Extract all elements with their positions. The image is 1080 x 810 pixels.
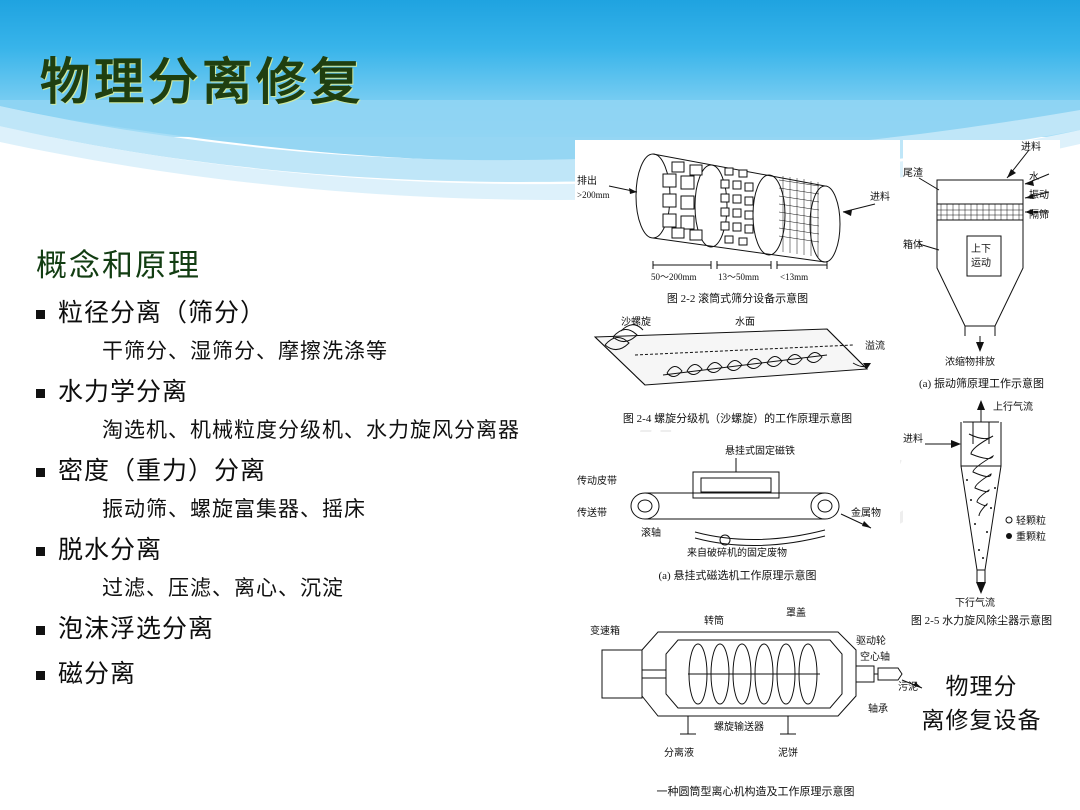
page-title: 物理分离修复 [40, 42, 364, 114]
fig6-label-feed: 进料 [903, 432, 923, 445]
figure-magnetic-separator: 悬挂式固定磁铁 传动皮带 传送带 滚轴 金属物 来自破碎机的固定废物 (a) 悬… [575, 432, 900, 582]
bullet-square-icon [36, 626, 45, 635]
bullet-square-icon [36, 310, 45, 319]
fig5-label-discharge: 浓缩物排放 [945, 355, 995, 368]
fig1-label-out: 排出 [577, 174, 597, 187]
fig2-caption: 图 2-4 螺旋分级机（沙螺旋）的工作原理示意图 [575, 410, 900, 426]
bullet-group-1: 水力学分离 淘选机、机械粒度分级机、水力旋风分离器 [36, 373, 576, 447]
bullet-sub-label: 淘选机、机械粒度分级机、水力旋风分离器 [102, 413, 576, 447]
bullet-square-icon [36, 671, 45, 680]
fig2-label-sand-spiral: 沙螺旋 [621, 315, 651, 328]
equipment-label-line2: 离修复设备 [903, 704, 1060, 738]
fig4-caption: 一种圆筒型离心机构造及工作原理示意图 [573, 783, 938, 799]
bullet-main-label: 磁分离 [58, 655, 136, 695]
fig3-label-conveyor: 传送带 [577, 506, 607, 519]
bullet-main-label: 密度（重力）分离 [58, 452, 266, 492]
fig2-label-water-surface: 水面 [735, 316, 755, 328]
equipment-label: 物理分 离修复设备 [903, 670, 1060, 738]
bullet-main-label: 粒径分离（筛分） [58, 294, 266, 334]
fig5-caption: (a) 振动筛原理工作示意图 [903, 375, 1060, 391]
fig6-label-up-flow: 上行气流 [993, 400, 1033, 413]
figure-spiral-classifier-drawing: 沙螺旋 水面 溢流 [575, 315, 900, 410]
fig1-scale-0: 50～200mm [651, 272, 697, 282]
bullet-group-0: 粒径分离（筛分） 干筛分、湿筛分、摩擦洗涤等 [36, 294, 576, 368]
bullet-square-icon [36, 389, 45, 398]
bullet-main-label: 脱水分离 [58, 531, 162, 571]
bullet-sub-label: 干筛分、湿筛分、摩擦洗涤等 [102, 334, 576, 368]
figure-magnetic-separator-drawing: 悬挂式固定磁铁 传动皮带 传送带 滚轴 金属物 来自破碎机的固定废物 [575, 432, 900, 567]
fig5-label-water: 水 [1029, 171, 1039, 183]
figure-centrifuge-drawing: 变速箱 转筒 罩盖 驱动轮 空心轴 污泥 轴承 螺旋输送器 分离液 泥饼 [538, 588, 938, 783]
figure-drum-screen-drawing: 排出 >200mm 进料 50～200mm 13～50mm <13mm [575, 140, 900, 290]
fig1-scale-1: 13～50mm [718, 272, 759, 282]
bullet-sub-label: 振动筛、螺旋富集器、摇床 [102, 492, 576, 526]
bullet-group-5: 磁分离 [36, 655, 576, 695]
fig5-label-vibration: 振动 [1029, 188, 1049, 201]
bullet-sub-label: 过滤、压滤、离心、沉淀 [102, 571, 576, 605]
fig1-scale-2: <13mm [780, 272, 808, 282]
fig1-caption: 图 2-2 滚筒式筛分设备示意图 [575, 290, 900, 306]
fig3-label-metal: 金属物 [851, 506, 881, 519]
figure-hydrocyclone: 上行气流 进料 轻颗粒 重颗粒 下行气流 图 2-5 水力旋风除尘器示意图 [903, 400, 1060, 630]
fig1-label-feed: 进料 [870, 190, 890, 203]
bullet-group-2: 密度（重力）分离 振动筛、螺旋富集器、摇床 [36, 452, 576, 526]
figure-spiral-classifier: 沙螺旋 水面 溢流 图 2-4 螺旋分级机（沙螺旋）的工作原理示意图 [575, 315, 900, 430]
fig1-label-out-size: >200mm [577, 190, 610, 200]
fig3-label-drive-belt: 传动皮带 [577, 474, 617, 487]
figure-vibrating-screen-drawing: 进料 水 振动 隔筛 尾渣 箱体 上下 运动 浓缩物排放 [903, 140, 1060, 375]
fig5-label-box: 箱体 [903, 238, 923, 251]
list-item: 水力学分离 [36, 373, 576, 413]
fig5-label-tailings: 尾渣 [903, 166, 923, 179]
fig3-caption: (a) 悬挂式磁选机工作原理示意图 [575, 567, 900, 583]
figure-vibrating-screen: 进料 水 振动 隔筛 尾渣 箱体 上下 运动 浓缩物排放 (a) 振动筛原理工作… [903, 140, 1060, 390]
figure-centrifuge: 变速箱 转筒 罩盖 驱动轮 空心轴 污泥 轴承 螺旋输送器 分离液 泥饼 一种圆… [538, 588, 938, 805]
fig5-label-updown-2: 运动 [971, 257, 991, 269]
fig6-label-heavy: 重颗粒 [1016, 530, 1046, 543]
section-title: 概念和原理 [36, 240, 201, 285]
fig5-label-updown-1: 上下 [971, 243, 991, 255]
bullet-square-icon [36, 468, 45, 477]
bullet-main-label: 泡沫浮选分离 [58, 610, 214, 650]
bullet-square-icon [36, 547, 45, 556]
figure-drum-screen: 排出 >200mm 进料 50～200mm 13～50mm <13mm 图 2-… [575, 140, 900, 305]
fig6-label-down-flow: 下行气流 [955, 596, 995, 609]
fig3-label-roller: 滚轴 [641, 526, 661, 539]
fig4-label-bearing: 轴承 [868, 702, 888, 715]
fig4-label-screw-conveyor: 螺旋输送器 [714, 720, 764, 733]
figure-hydrocyclone-drawing: 上行气流 进料 轻颗粒 重颗粒 下行气流 [903, 400, 1060, 610]
fig3-label-waste: 来自破碎机的固定废物 [687, 546, 787, 559]
list-item: 密度（重力）分离 [36, 452, 576, 492]
fig6-caption: 图 2-5 水力旋风除尘器示意图 [903, 612, 1060, 628]
fig5-label-feed: 进料 [1021, 140, 1041, 153]
fig4-label-drum: 转筒 [704, 614, 724, 627]
fig4-label-separation-liquid: 分离液 [664, 746, 694, 759]
fig2-label-overflow: 溢流 [865, 339, 885, 352]
list-item: 脱水分离 [36, 531, 576, 571]
fig6-label-light: 轻颗粒 [1016, 514, 1046, 527]
list-item: 泡沫浮选分离 [36, 610, 576, 650]
fig4-label-mud-cake: 泥饼 [778, 746, 798, 759]
fig4-label-drive-wheel: 驱动轮 [856, 634, 886, 647]
fig4-label-cover: 罩盖 [786, 606, 806, 619]
list-item: 粒径分离（筛分） [36, 294, 576, 334]
bullet-list: 粒径分离（筛分） 干筛分、湿筛分、摩擦洗涤等 水力学分离 淘选机、机械粒度分级机… [36, 292, 576, 700]
fig4-label-hollow-shaft: 空心轴 [860, 650, 890, 663]
list-item: 磁分离 [36, 655, 576, 695]
bullet-main-label: 水力学分离 [58, 373, 188, 413]
equipment-label-line1: 物理分 [903, 670, 1060, 704]
fig4-label-gearbox: 变速箱 [590, 624, 620, 637]
bullet-group-4: 泡沫浮选分离 [36, 610, 576, 650]
figure-panel: 化 化 化 [573, 140, 1060, 805]
fig5-label-screen: 隔筛 [1029, 208, 1049, 221]
bullet-group-3: 脱水分离 过滤、压滤、离心、沉淀 [36, 531, 576, 605]
fig3-label-suspended-magnet: 悬挂式固定磁铁 [725, 444, 795, 457]
